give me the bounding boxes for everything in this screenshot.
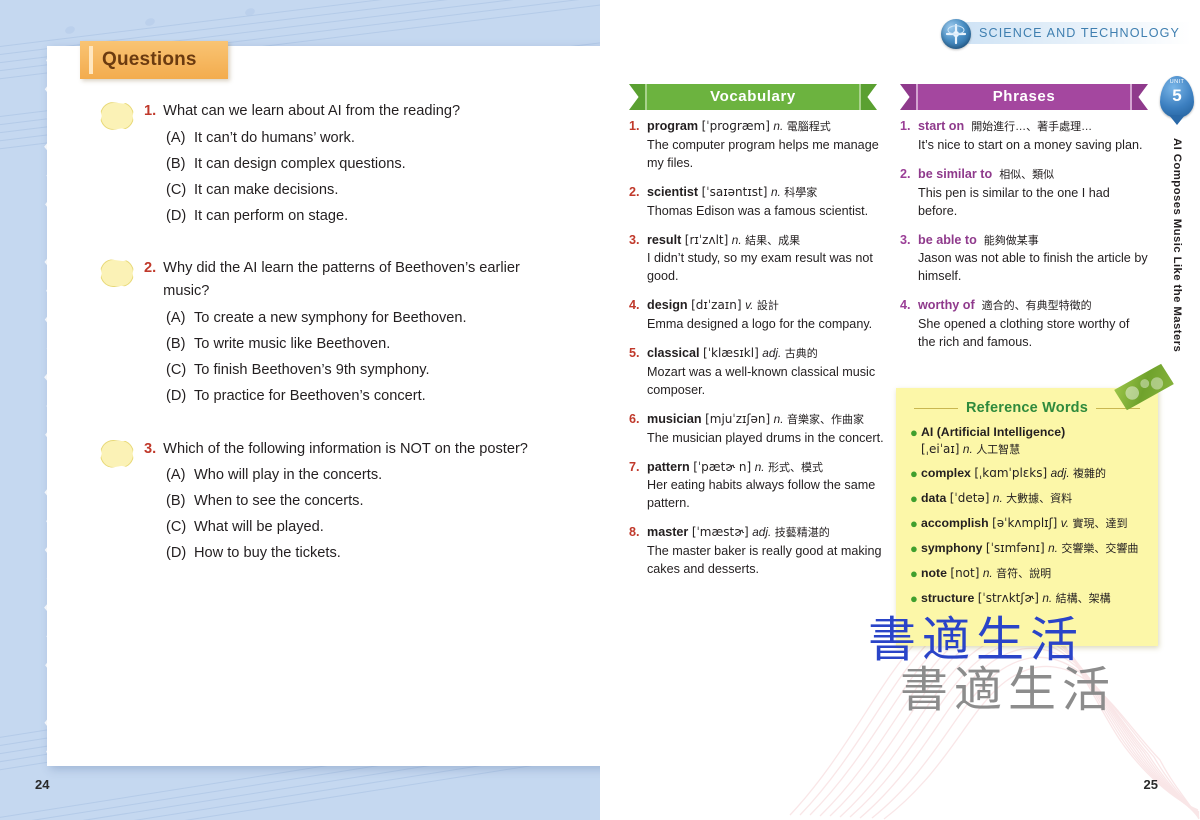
question-number: 2. [144, 257, 156, 302]
phrases-banner-label-wrap: Phrases [916, 84, 1132, 110]
entry-example: The master baker is really good at makin… [647, 543, 887, 579]
reference-ipa: [ˈsɪmfənɪ] [986, 541, 1045, 555]
entry-number: 6. [629, 410, 647, 448]
reference-words-title: Reference Words [966, 400, 1088, 416]
entry-number: 1. [900, 117, 918, 155]
entry-word: result [647, 233, 681, 247]
option-text: Who will play in the concerts. [194, 463, 382, 489]
reference-pos: adj. [1051, 466, 1070, 480]
entry-ipa: [dɪˈzaɪn] [691, 298, 741, 312]
vocabulary-entry: 5. classical [ˈklæsɪkl] adj. 古典的 Mozart … [629, 344, 887, 400]
option-label: (C) [166, 178, 194, 204]
vocabulary-banner-label: Vocabulary [710, 88, 796, 105]
option-row[interactable]: (C) What will be played. [166, 515, 570, 541]
option-label: (A) [166, 306, 194, 332]
entry-pos: n. [755, 460, 765, 474]
option-label: (A) [166, 126, 194, 152]
entry-number: 5. [629, 344, 647, 400]
reference-word: complex [921, 466, 971, 480]
entry-word: be able to [918, 233, 977, 247]
entry-ipa: [ˈsaɪəntɪst] [702, 185, 768, 199]
unit-tab: UNIT 5 AI Composes Music Like the Master… [1160, 76, 1194, 352]
bullet-dot-icon: ● [910, 590, 921, 608]
option-row[interactable]: (B) It can design complex questions. [166, 152, 570, 178]
divider-line [1096, 408, 1140, 409]
entry-number: 2. [900, 165, 918, 221]
reference-translation: 音符、說明 [996, 568, 1051, 580]
option-text: It can perform on stage. [194, 204, 348, 230]
reference-word: AI (Artificial Intelligence) [921, 425, 1065, 439]
reference-words-list: ● AI (Artificial Intelligence) [ˌeiˈaɪ] … [896, 424, 1158, 608]
option-label: (C) [166, 515, 194, 541]
entry-word: master [647, 525, 688, 539]
option-label: (C) [166, 358, 194, 384]
entry-translation: 結果、成果 [745, 235, 800, 247]
phrase-entry: 3. be able to 能夠做某事 Jason was not able t… [900, 231, 1150, 287]
entry-example: Her eating habits always follow the same… [647, 477, 887, 513]
option-row[interactable]: (A) It can’t do humans’ work. [166, 126, 570, 152]
entry-number: 8. [629, 523, 647, 579]
entry-number: 4. [900, 296, 918, 352]
entry-word: scientist [647, 185, 698, 199]
page-number-right: 25 [1144, 777, 1158, 792]
reference-word-item: ● accomplish [əˈkʌmplɪʃ] v. 實現、達到 [910, 515, 1146, 533]
reference-ipa: [not] [950, 566, 979, 580]
entry-ipa: [ˈmæstɚ] [692, 525, 749, 539]
bullet-dot-icon: ● [910, 490, 921, 508]
question-number: 1. [144, 100, 156, 123]
question-text: 1. What can we learn about AI from the r… [144, 100, 570, 229]
vocabulary-entry: 8. master [ˈmæstɚ] adj. 技藝精湛的 The master… [629, 523, 887, 579]
entry-translation: 能夠做某事 [984, 235, 1039, 247]
unit-badge: UNIT 5 [1160, 76, 1194, 118]
reference-ipa: [ˈstrʌktʃɚ] [978, 591, 1039, 605]
reference-translation: 複雜的 [1073, 468, 1106, 480]
reference-pos: n. [983, 566, 993, 580]
phrase-entry: 2. be similar to 相似、類似 This pen is simil… [900, 165, 1150, 221]
bullet-dot-icon: ● [910, 424, 921, 458]
entry-translation: 相似、類似 [999, 169, 1054, 181]
ribbon-right-tail [1132, 84, 1148, 110]
entry-ipa: [ˈklæsɪkl] [703, 346, 759, 360]
entry-translation: 古典的 [785, 348, 818, 360]
reference-word-item: ● note [not] n. 音符、說明 [910, 565, 1146, 583]
reference-translation: 人工智慧 [976, 444, 1020, 456]
entry-word: design [647, 298, 688, 312]
globe-icon [941, 19, 971, 49]
entry-example: She opened a clothing store worthy of th… [918, 316, 1150, 352]
option-row[interactable]: (A) Who will play in the concerts. [166, 463, 570, 489]
questions-banner-label: Questions [102, 49, 197, 71]
ribbon-left-tail [900, 84, 916, 110]
question-item: 1. What can we learn about AI from the r… [100, 100, 570, 229]
reference-words-title-row: Reference Words [896, 400, 1158, 416]
ribbon-left-tail [629, 84, 645, 110]
question-bullet-blob [100, 440, 134, 468]
question-item: 2. Why did the AI learn the patterns of … [100, 257, 570, 409]
option-row[interactable]: (D) How to buy the tickets. [166, 541, 570, 567]
phrases-list: 1. start on 開始進行…、著手處理… It’s nice to sta… [900, 117, 1150, 362]
question-text: 3. Which of the following information is… [144, 438, 570, 567]
bullet-dot-icon: ● [910, 465, 921, 483]
vocabulary-list: 1. program [ˈproɡræm] n. 電腦程式 The comput… [629, 117, 887, 589]
unit-title-vertical: AI Composes Music Like the Masters [1160, 138, 1194, 352]
reference-word-item: ● symphony [ˈsɪmfənɪ] n. 交響樂、交響曲 [910, 540, 1146, 558]
section-header: SCIENCE AND TECHNOLOGY [941, 19, 1191, 49]
divider-line [914, 408, 958, 409]
reference-translation: 交響樂、交響曲 [1061, 543, 1138, 555]
question-text: 2. Why did the AI learn the patterns of … [144, 257, 570, 409]
entry-number: 3. [629, 231, 647, 287]
option-text: To write music like Beethoven. [194, 332, 390, 358]
reference-word: accomplish [921, 516, 989, 530]
vocabulary-entry: 3. result [rɪˈzʌlt] n. 結果、成果 I didn’t st… [629, 231, 887, 287]
reference-word-item: ● data [ˈdetə] n. 大數據、資料 [910, 490, 1146, 508]
vocabulary-banner: Vocabulary [629, 84, 877, 110]
option-row[interactable]: (D) To practice for Beethoven’s concert. [166, 384, 570, 410]
reference-ipa: [ˌeiˈaɪ] [921, 442, 960, 456]
option-row[interactable]: (C) It can make decisions. [166, 178, 570, 204]
reference-translation: 大數據、資料 [1006, 493, 1072, 505]
option-row[interactable]: (D) It can perform on stage. [166, 204, 570, 230]
questions-banner: Questions [80, 41, 228, 79]
entry-translation: 適合的、有典型特徵的 [982, 300, 1092, 312]
entry-pos: n. [732, 233, 742, 247]
entry-pos: n. [771, 185, 781, 199]
entry-word: program [647, 119, 698, 133]
entry-translation: 技藝精湛的 [775, 527, 830, 539]
option-text: When to see the concerts. [194, 489, 364, 515]
entry-translation: 開始進行…、著手處理… [971, 121, 1092, 133]
vocabulary-entry: 7. pattern [ˈpætɚ n] n. 形式、模式 Her eating… [629, 458, 887, 514]
entry-example: Jason was not able to finish the article… [918, 250, 1150, 286]
option-row[interactable]: (C) To finish Beethoven’s 9th symphony. [166, 358, 570, 384]
reference-word: structure [921, 591, 974, 605]
reference-ipa: [ˌkɑmˈplɛks] [974, 466, 1047, 480]
option-label: (B) [166, 489, 194, 515]
option-label: (B) [166, 332, 194, 358]
entry-example: The computer program helps me manage my … [647, 137, 887, 173]
entry-example: Emma designed a logo for the company. [647, 316, 887, 334]
reference-pos: n. [993, 491, 1003, 505]
option-label: (D) [166, 204, 194, 230]
option-text: How to buy the tickets. [194, 541, 341, 567]
unit-number: 5 [1172, 87, 1181, 104]
phrases-banner-label: Phrases [993, 88, 1056, 105]
entry-word: musician [647, 412, 702, 426]
unit-label: UNIT [1170, 80, 1185, 86]
phrases-banner: Phrases [900, 84, 1148, 110]
entry-translation: 電腦程式 [787, 121, 831, 133]
option-text: To create a new symphony for Beethoven. [194, 306, 467, 332]
entry-example: Thomas Edison was a famous scientist. [647, 203, 887, 221]
section-header-title: SCIENCE AND TECHNOLOGY [979, 26, 1180, 40]
reference-pos: n. [1042, 591, 1052, 605]
vocabulary-entry: 1. program [ˈproɡræm] n. 電腦程式 The comput… [629, 117, 887, 173]
reference-word: note [921, 566, 947, 580]
entry-ipa: [rɪˈzʌlt] [685, 233, 729, 247]
reference-translation: 結構、架構 [1056, 593, 1111, 605]
entry-translation: 設計 [757, 300, 779, 312]
entry-pos: adj. [752, 525, 771, 539]
entry-word: start on [918, 119, 964, 133]
option-row[interactable]: (B) To write music like Beethoven. [166, 332, 570, 358]
bullet-dot-icon: ● [910, 515, 921, 533]
entry-number: 1. [629, 117, 647, 173]
reference-word: data [921, 491, 946, 505]
entry-translation: 音樂家、作曲家 [787, 414, 864, 426]
vocabulary-entry: 6. musician [mjuˈzɪʃən] n. 音樂家、作曲家 The m… [629, 410, 887, 448]
question-options: (A) Who will play in the concerts. (B) W… [166, 463, 570, 567]
option-row[interactable]: (B) When to see the concerts. [166, 489, 570, 515]
question-stem: Which of the following information is NO… [163, 438, 570, 461]
bullet-dot-icon: ● [910, 540, 921, 558]
question-item: 3. Which of the following information is… [100, 438, 570, 567]
reference-ipa: [əˈkʌmplɪʃ] [992, 516, 1057, 530]
phrase-entry: 1. start on 開始進行…、著手處理… It’s nice to sta… [900, 117, 1150, 155]
vocabulary-entry: 4. design [dɪˈzaɪn] v. 設計 Emma designed … [629, 296, 887, 334]
reference-words-box: Reference Words ● AI (Artificial Intelli… [896, 388, 1158, 646]
entry-pos: n. [774, 412, 784, 426]
reference-word: symphony [921, 541, 983, 555]
option-text: To finish Beethoven’s 9th symphony. [194, 358, 430, 384]
vocabulary-entry: 2. scientist [ˈsaɪəntɪst] n. 科學家 Thomas … [629, 183, 887, 221]
option-label: (D) [166, 384, 194, 410]
right-page: SCIENCE AND TECHNOLOGY UNIT 5 AI Compose… [600, 0, 1200, 820]
page-number-left: 24 [35, 777, 49, 792]
entry-number: 3. [900, 231, 918, 287]
entry-pos: n. [773, 119, 783, 133]
entry-ipa: [ˈproɡræm] [702, 119, 770, 133]
option-text: What will be played. [194, 515, 324, 541]
entry-translation: 科學家 [784, 187, 817, 199]
entry-example: The musician played drums in the concert… [647, 430, 887, 448]
entry-example: I didn’t study, so my exam result was no… [647, 250, 887, 286]
question-options: (A) To create a new symphony for Beethov… [166, 306, 570, 410]
option-label: (D) [166, 541, 194, 567]
entry-example: Mozart was a well-known classical music … [647, 364, 887, 400]
left-page: Questions 1. What can we learn about AI … [0, 0, 600, 820]
option-row[interactable]: (A) To create a new symphony for Beethov… [166, 306, 570, 332]
reference-pos: n. [963, 442, 973, 456]
option-text: It can’t do humans’ work. [194, 126, 355, 152]
option-label: (A) [166, 463, 194, 489]
entry-word: be similar to [918, 167, 992, 181]
entry-number: 7. [629, 458, 647, 514]
reference-pos: n. [1048, 541, 1058, 555]
phrase-entry: 4. worthy of 適合的、有典型特徵的 She opened a clo… [900, 296, 1150, 352]
question-stem: What can we learn about AI from the read… [163, 100, 570, 123]
reference-word-item: ● structure [ˈstrʌktʃɚ] n. 結構、架構 [910, 590, 1146, 608]
entry-ipa: [ˈpætɚ n] [693, 460, 751, 474]
banner-accent-bar [89, 46, 93, 74]
question-stem: Why did the AI learn the patterns of Bee… [163, 257, 570, 302]
option-text: To practice for Beethoven’s concert. [194, 384, 426, 410]
question-number: 3. [144, 438, 156, 461]
vocabulary-banner-label-wrap: Vocabulary [645, 84, 861, 110]
reference-word-item: ● AI (Artificial Intelligence) [ˌeiˈaɪ] … [910, 424, 1146, 458]
questions-list: 1. What can we learn about AI from the r… [100, 100, 570, 595]
ribbon-right-tail [861, 84, 877, 110]
question-bullet-blob [100, 259, 134, 287]
reference-pos: v. [1061, 516, 1069, 530]
entry-number: 4. [629, 296, 647, 334]
bullet-dot-icon: ● [910, 565, 921, 583]
entry-word: worthy of [918, 298, 975, 312]
reference-ipa: [ˈdetə] [950, 491, 990, 505]
entry-pos: v. [745, 298, 753, 312]
option-text: It can design complex questions. [194, 152, 406, 178]
entry-ipa: [mjuˈzɪʃən] [705, 412, 770, 426]
option-text: It can make decisions. [194, 178, 338, 204]
textbook-spread: Questions 1. What can we learn about AI … [0, 0, 1200, 820]
question-bullet-blob [100, 102, 134, 130]
option-label: (B) [166, 152, 194, 178]
entry-example: It’s nice to start on a money saving pla… [918, 137, 1150, 155]
entry-number: 2. [629, 183, 647, 221]
entry-word: pattern [647, 460, 690, 474]
question-options: (A) It can’t do humans’ work. (B) It can… [166, 126, 570, 230]
reference-word-item: ● complex [ˌkɑmˈplɛks] adj. 複雜的 [910, 465, 1146, 483]
entry-translation: 形式、模式 [768, 462, 823, 474]
entry-word: classical [647, 346, 700, 360]
reference-translation: 實現、達到 [1072, 518, 1127, 530]
entry-pos: adj. [762, 346, 781, 360]
entry-example: This pen is similar to the one I had bef… [918, 185, 1150, 221]
